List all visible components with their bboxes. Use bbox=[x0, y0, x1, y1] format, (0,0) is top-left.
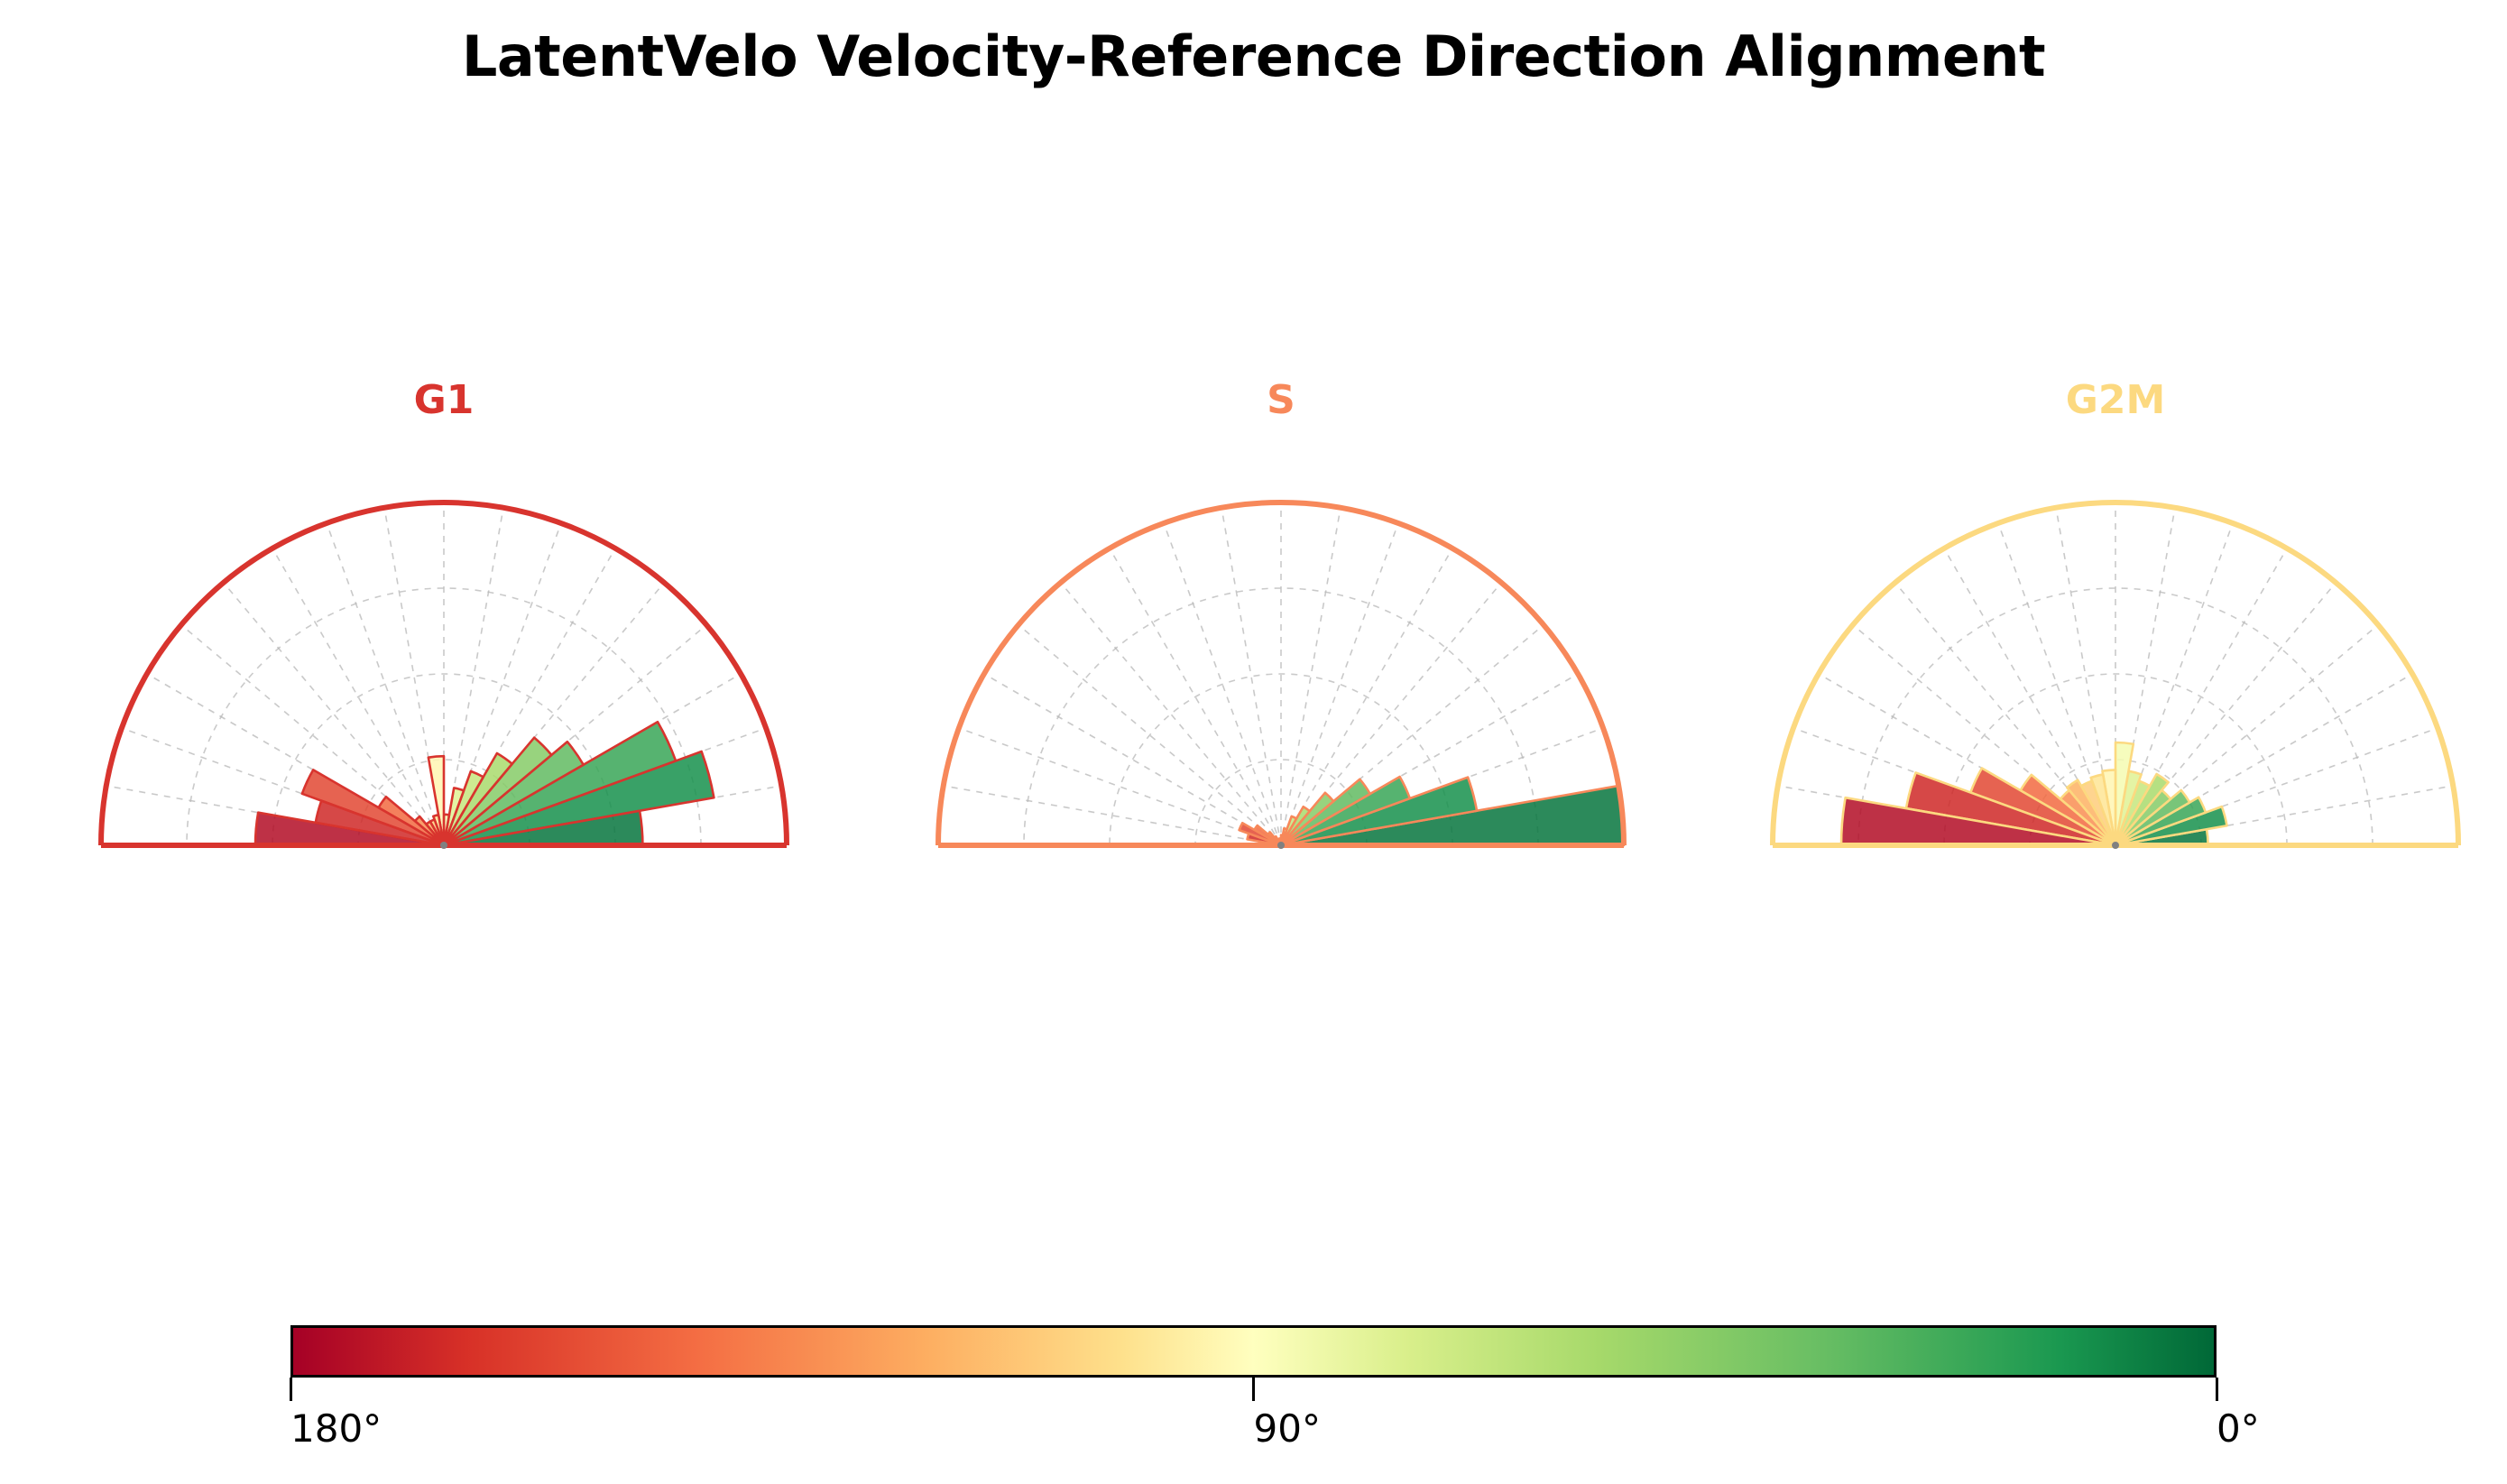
figure-title: LatentVelo Velocity-Reference Direction … bbox=[0, 23, 2507, 89]
colorbar-tick-180 bbox=[290, 1378, 292, 1401]
polar-origin bbox=[440, 842, 447, 849]
panel-title-g2m: G2M bbox=[1710, 377, 2507, 423]
panel-title-s: S bbox=[875, 377, 1687, 423]
rose-plot-s bbox=[875, 492, 1687, 871]
polar-origin bbox=[1277, 842, 1285, 849]
rose-svg-s bbox=[875, 492, 1687, 871]
colorbar-tick-0 bbox=[2216, 1378, 2218, 1401]
figure-canvas: LatentVelo Velocity-Reference Direction … bbox=[0, 0, 2507, 1483]
panel-g1: G1 bbox=[38, 361, 850, 938]
rose-bars bbox=[255, 722, 714, 845]
polar-grid bbox=[944, 502, 1618, 845]
rose-svg-g2m bbox=[1710, 492, 2507, 871]
rose-plot-g1 bbox=[38, 492, 850, 871]
polar-origin bbox=[2112, 842, 2119, 849]
panel-s: S bbox=[875, 361, 1687, 938]
rose-svg-g1 bbox=[38, 492, 850, 871]
panel-title-g1: G1 bbox=[38, 377, 850, 423]
colorbar: 180° 90° 0° bbox=[0, 1313, 2507, 1484]
rose-bars bbox=[1240, 777, 1624, 845]
rose-plot-g2m bbox=[1710, 492, 2507, 871]
panel-g2m: G2M bbox=[1710, 361, 2507, 938]
colorbar-tick-90 bbox=[1252, 1378, 1255, 1401]
colorbar-gradient bbox=[290, 1325, 2217, 1378]
rose-bars bbox=[1841, 742, 2226, 845]
